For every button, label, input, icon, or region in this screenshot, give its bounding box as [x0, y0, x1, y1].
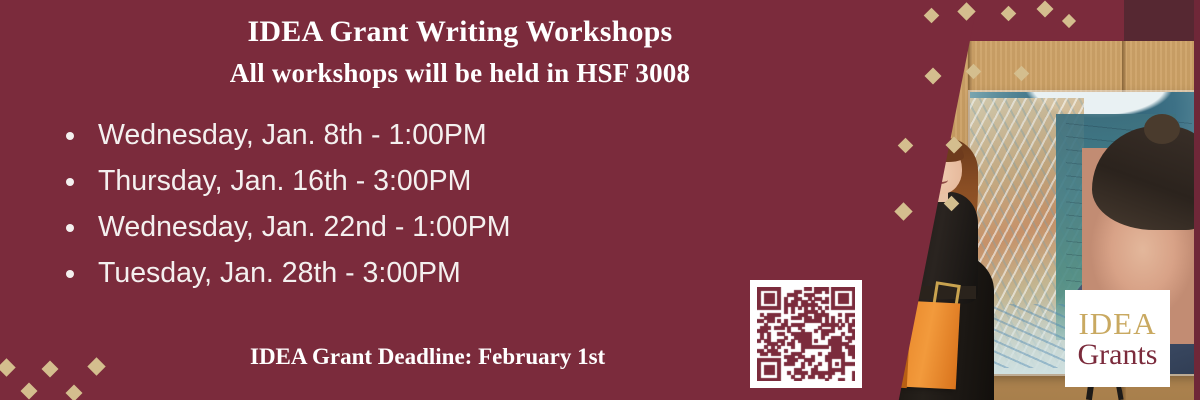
page-title: IDEA Grant Writing Workshops: [0, 14, 920, 50]
list-item: Wednesday, Jan. 22nd - 1:00PM: [62, 204, 510, 250]
logo-line-idea: IDEA: [1078, 308, 1156, 339]
gold-diamond: [21, 383, 38, 400]
gold-diamond: [0, 358, 16, 376]
idea-grants-logo: IDEA Grants: [1065, 290, 1170, 387]
qr-code-canvas[interactable]: [757, 287, 855, 381]
logo-line-grants: Grants: [1078, 340, 1158, 370]
painting-figure-hair-bun: [1144, 114, 1180, 144]
right-edge-strip: [1194, 0, 1200, 400]
qr-code[interactable]: [750, 280, 862, 388]
top-right-dark-block: [1124, 0, 1200, 41]
page-subtitle: All workshops will be held in HSF 3008: [0, 56, 920, 90]
deadline-text: IDEA Grant Deadline: February 1st: [250, 344, 605, 370]
list-item: Thursday, Jan. 16th - 3:00PM: [62, 158, 510, 204]
gold-diamond: [87, 357, 105, 375]
list-item: Tuesday, Jan. 28th - 3:00PM: [62, 250, 510, 296]
gold-diamond: [42, 361, 59, 378]
poster-canvas: IDEA Grants IDEA Grant Writing Workshops…: [0, 0, 1200, 400]
list-item: Wednesday, Jan. 8th - 1:00PM: [62, 112, 510, 158]
workshop-list: Wednesday, Jan. 8th - 1:00PM Thursday, J…: [62, 112, 510, 296]
gold-diamond: [66, 385, 83, 400]
headings-block: IDEA Grant Writing Workshops All worksho…: [0, 14, 920, 90]
